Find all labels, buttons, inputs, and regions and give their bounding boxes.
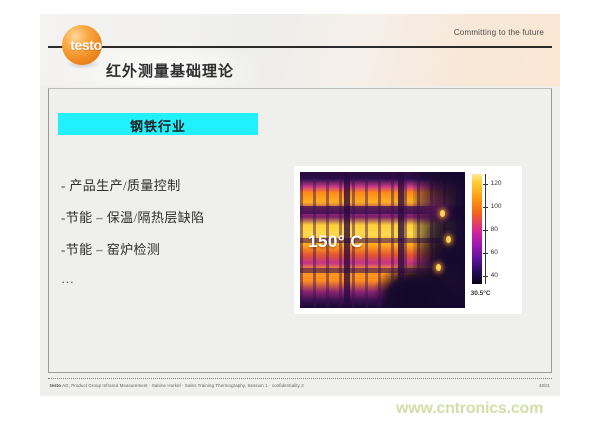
section-banner-label: 钢铁行业 (58, 116, 258, 135)
site-watermark: www.cntronics.com (396, 400, 543, 418)
brand-tagline: Committing to the future (454, 28, 544, 37)
logo-wordmark: testo (64, 37, 108, 53)
list-item: -节能 – 窑炉检测 (61, 239, 276, 258)
scale-tick (483, 276, 488, 277)
scale-tick-label: 60 (491, 249, 498, 256)
scale-tick-label: 100 (491, 203, 502, 210)
scale-tick-label: 40 (491, 272, 498, 279)
thermal-tree-silhouette (378, 260, 454, 308)
thermal-figure: 150° C 120 100 80 60 40 30.5°C (294, 166, 522, 314)
scale-tick-label: 80 (491, 226, 498, 233)
footer-page-number: 48/21 (539, 383, 550, 388)
color-scale-bar (472, 174, 482, 284)
scale-tick-label: 120 (491, 180, 502, 187)
thermal-hotspot (446, 236, 451, 243)
list-item: … (61, 271, 276, 287)
slide-title: 红外测量基础理论 (106, 60, 234, 81)
scale-axis (485, 174, 486, 284)
list-item: -节能 – 保温/隔热层缺陷 (61, 207, 276, 226)
thermal-hotspot (440, 210, 445, 217)
thermal-hotspot (436, 264, 441, 271)
footer-brand: testo (50, 383, 61, 388)
scale-tick (483, 253, 488, 254)
scale-min-label: 30.5°C (471, 290, 491, 297)
footer-credit-text: AG, Product Group Infrared Measurement ·… (61, 383, 304, 388)
section-banner: 钢铁行业 (58, 113, 258, 135)
header-divider (48, 46, 552, 48)
presentation-slide: Committing to the future testo 红外测量基础理论 … (40, 14, 560, 396)
footer-credit: testo AG, Product Group Infrared Measure… (50, 383, 304, 388)
scale-tick (483, 184, 488, 185)
thermal-image: 150° C (300, 172, 465, 308)
scale-tick (483, 230, 488, 231)
scale-tick (483, 207, 488, 208)
slide-body: 钢铁行业 - 产品生产/质量控制 -节能 – 保温/隔热层缺陷 -节能 – 窑炉… (48, 88, 552, 373)
temperature-color-scale: 120 100 80 60 40 30.5°C (472, 172, 517, 308)
bullet-list: - 产品生产/质量控制 -节能 – 保温/隔热层缺陷 -节能 – 窑炉检测 … (61, 175, 276, 300)
temperature-annotation: 150° C (308, 232, 363, 252)
testo-logo: testo (62, 25, 102, 65)
footer-divider (48, 378, 552, 379)
list-item: - 产品生产/质量控制 (61, 175, 276, 194)
